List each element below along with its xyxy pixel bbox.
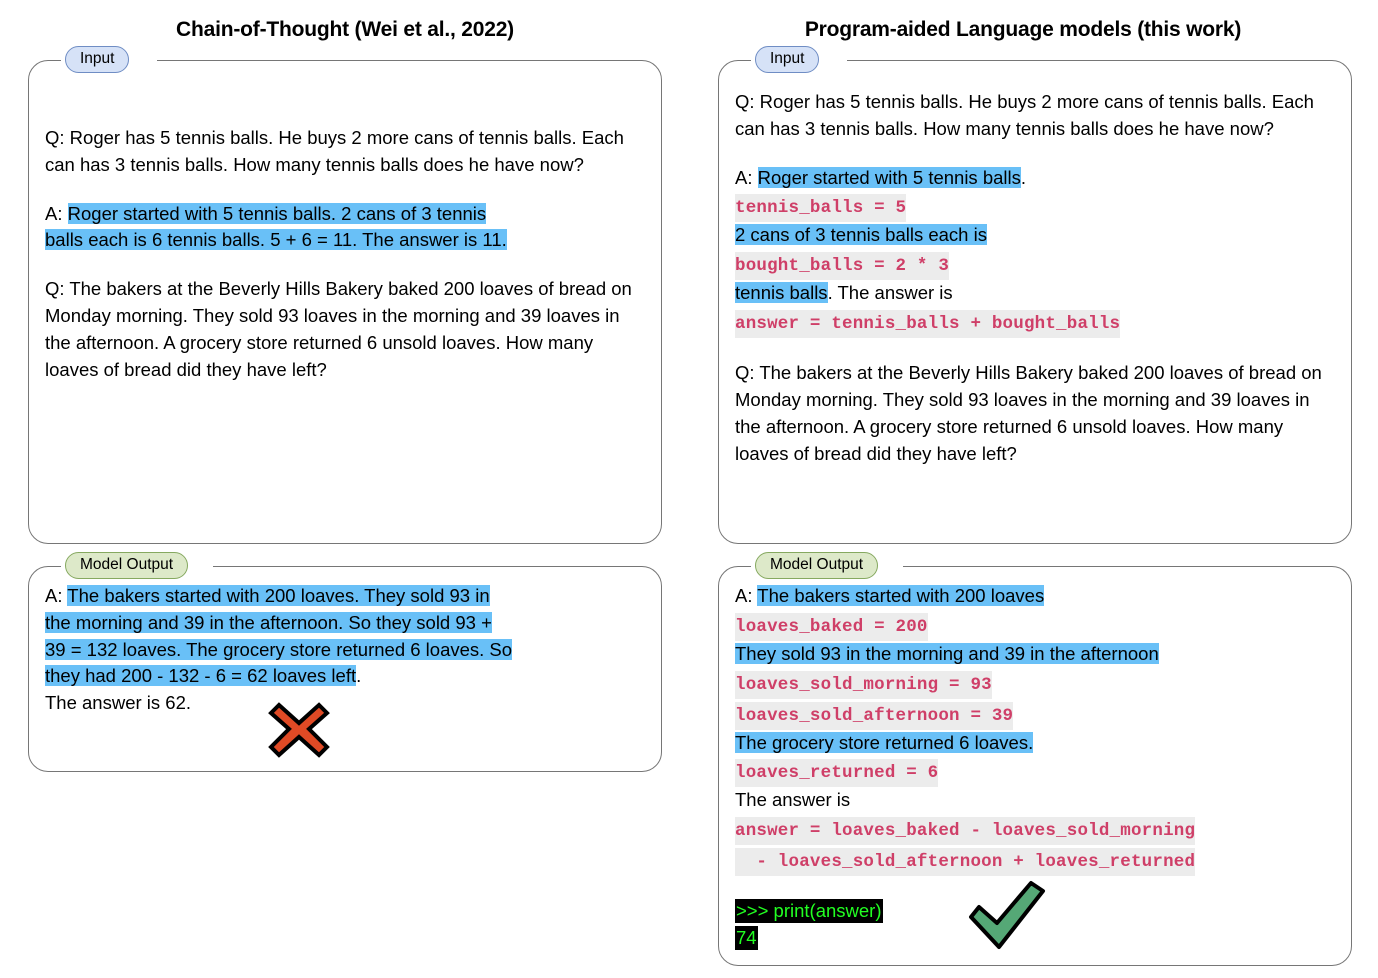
code-assignment-bought-balls: bought_balls = 2 * 3 (735, 252, 949, 280)
cot-input-question-2: Q: The bakers at the Beverly Hills Baker… (45, 276, 645, 383)
pal-output-panel: Model Output A: The bakers started with … (718, 566, 1352, 966)
highlighted-nl-step-1: Roger started with 5 tennis balls (758, 167, 1021, 188)
pal-answer-line-3: tennis balls. The answer is (735, 280, 1335, 307)
highlighted-reasoning-line-1: Roger started with 5 tennis balls. 2 can… (68, 203, 487, 224)
pal-output-line-3: The grocery store returned 6 loaves. (735, 730, 1335, 757)
terminal-prompt: >>> print(answer) (735, 899, 883, 923)
pal-code-line-1: tennis_balls = 5 (735, 191, 1335, 222)
spacer (45, 91, 645, 113)
highlighted-output-line-4: they had 200 - 132 - 6 = 62 loaves left (45, 665, 356, 686)
answer-prefix: A: (735, 167, 758, 188)
answer-prefix: A: (45, 585, 67, 606)
highlighted-output-line-1: The bakers started with 200 loaves. They… (67, 585, 489, 606)
answer-prefix: A: (45, 203, 68, 224)
left-column: Chain-of-Thought (Wei et al., 2022) Inpu… (28, 0, 662, 42)
highlighted-output-step-1: The bakers started with 200 loaves (757, 585, 1044, 606)
cot-input-answer-1: A: Roger started with 5 tennis balls. 2 … (45, 201, 645, 255)
spacer (735, 143, 1335, 165)
code-assignment-loaves-baked: loaves_baked = 200 (735, 613, 928, 641)
pal-output-code-3: loaves_sold_afternoon = 39 (735, 699, 1335, 730)
pal-code-line-3: answer = tennis_balls + bought_balls (735, 307, 1335, 338)
cot-input-body: Q: Roger has 5 tennis balls. He buys 2 m… (29, 61, 661, 394)
nl-step-1-tail: . (1021, 167, 1026, 188)
cot-input-panel: Input Q: Roger has 5 tennis balls. He bu… (28, 60, 662, 544)
code-assignment-answer: answer = tennis_balls + bought_balls (735, 310, 1120, 338)
cot-final-answer: The answer is 62. (45, 690, 645, 717)
highlighted-nl-step-2: 2 cans of 3 tennis balls each is (735, 224, 987, 245)
spacer (45, 179, 645, 201)
cross-mark-icon (267, 697, 331, 766)
highlighted-reasoning-line-2: balls each is 6 tennis balls. 5 + 6 = 11… (45, 229, 507, 250)
pal-output-tab-label: Model Output (755, 552, 878, 579)
nl-step-3-tail: . The answer is (828, 282, 953, 303)
cot-output-answer: A: The bakers started with 200 loaves. T… (45, 583, 645, 690)
code-assignment-loaves-returned: loaves_returned = 6 (735, 759, 938, 787)
pal-input-answer-block: A: Roger started with 5 tennis balls. te… (735, 165, 1335, 338)
left-column-title: Chain-of-Thought (Wei et al., 2022) (28, 18, 662, 42)
pal-answer-line-1: A: Roger started with 5 tennis balls. (735, 165, 1335, 192)
answer-prefix: A: (735, 585, 757, 606)
code-assignment-answer-part-2: - loaves_sold_afternoon + loaves_returne… (735, 848, 1195, 876)
pal-comparison-figure: Chain-of-Thought (Wei et al., 2022) Inpu… (0, 0, 1378, 978)
code-assignment-answer-part-1: answer = loaves_baked - loaves_sold_morn… (735, 817, 1195, 845)
spacer (45, 113, 645, 125)
pal-answer-line-2: 2 cans of 3 tennis balls each is (735, 222, 1335, 249)
pal-input-panel: Input Q: Roger has 5 tennis balls. He bu… (718, 60, 1352, 544)
cot-input-question-1: Q: Roger has 5 tennis balls. He buys 2 m… (45, 125, 645, 179)
cot-output-tab-label: Model Output (65, 552, 188, 579)
pal-output-line-1: A: The bakers started with 200 loaves (735, 583, 1335, 610)
cot-output-panel: Model Output A: The bakers started with … (28, 566, 662, 772)
pal-output-code-1: loaves_baked = 200 (735, 610, 1335, 641)
pal-code-line-2: bought_balls = 2 * 3 (735, 249, 1335, 280)
cot-input-tab-label: Input (65, 46, 129, 73)
code-assignment-loaves-sold-morning: loaves_sold_morning = 93 (735, 671, 992, 699)
pal-output-code-2: loaves_sold_morning = 93 (735, 668, 1335, 699)
terminal-result: 74 (735, 926, 758, 950)
highlighted-output-step-2: They sold 93 in the morning and 39 in th… (735, 643, 1159, 664)
pal-input-question-2: Q: The bakers at the Beverly Hills Baker… (735, 360, 1335, 467)
pal-output-answer-label: The answer is (735, 787, 1335, 814)
highlighted-output-step-3: The grocery store returned 6 loaves. (735, 732, 1033, 753)
output-line-4-tail: . (356, 665, 361, 686)
pal-output-code-5a: answer = loaves_baked - loaves_sold_morn… (735, 814, 1335, 845)
pal-output-code-4: loaves_returned = 6 (735, 756, 1335, 787)
spacer (735, 338, 1335, 360)
code-assignment-loaves-sold-afternoon: loaves_sold_afternoon = 39 (735, 702, 1013, 730)
highlighted-output-line-3: 39 = 132 loaves. The grocery store retur… (45, 639, 512, 660)
pal-output-line-2: They sold 93 in the morning and 39 in th… (735, 641, 1335, 668)
pal-output-code-5b: - loaves_sold_afternoon + loaves_returne… (735, 845, 1335, 876)
pal-input-body: Q: Roger has 5 tennis balls. He buys 2 m… (719, 61, 1351, 477)
pal-input-question-1: Q: Roger has 5 tennis balls. He buys 2 m… (735, 89, 1335, 143)
right-column-title: Program-aided Language models (this work… (706, 18, 1340, 42)
code-assignment-tennis-balls: tennis_balls = 5 (735, 194, 906, 222)
spacer (45, 254, 645, 276)
right-column: Program-aided Language models (this work… (706, 0, 1340, 42)
highlighted-output-line-2: the morning and 39 in the afternoon. So … (45, 612, 492, 633)
cot-output-body: A: The bakers started with 200 loaves. T… (29, 567, 661, 727)
pal-input-tab-label: Input (755, 46, 819, 73)
highlighted-nl-step-3: tennis balls (735, 282, 828, 303)
check-mark-icon (965, 879, 1049, 960)
